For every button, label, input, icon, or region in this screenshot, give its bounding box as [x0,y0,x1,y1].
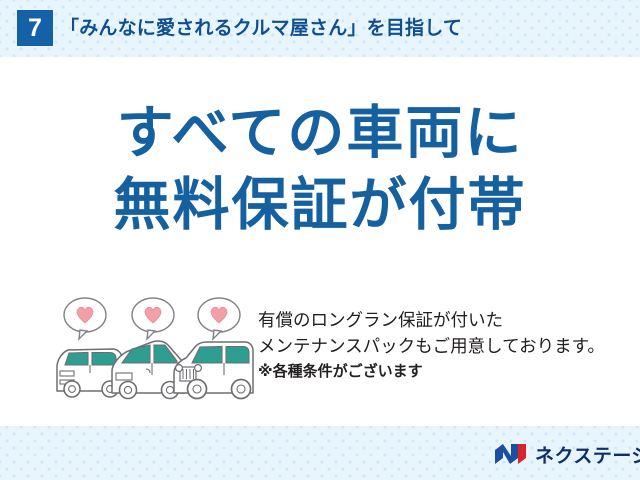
body-copy-line-2: メンテナンスパックもご用意しております。 [258,333,630,359]
speech-bubble-1 [64,298,106,339]
nextage-n-logo-icon [494,442,528,466]
body-copy-block: 有償のロングラン保証が付いた メンテナンスパックもご用意しております。 ※各種条… [258,307,630,385]
speech-bubble-3 [198,298,240,339]
content-panel: すべての車両に 無料保証が付帯 [0,57,640,426]
header-tagline: 「みんなに愛されるクルマ屋さん」を目指して [60,13,462,40]
car-suv [174,342,253,399]
cars-illustration-svg [52,295,262,400]
headline-line-2: 無料保証が付帯 [0,169,640,241]
section-number-badge: 7 [17,10,53,46]
cars-with-hearts-illustration [52,295,262,400]
header: 7 「みんなに愛されるクルマ屋さん」を目指して [0,0,640,57]
brand-logo: ネクステージ [494,440,640,468]
headline-line-1: すべての車両に [0,97,640,169]
advertisement-page: 7 「みんなに愛されるクルマ屋さん」を目指して すべての車両に 無料保証が付帯 [0,0,640,480]
body-copy-line-1: 有償のロングラン保証が付いた [258,307,630,333]
headline-block: すべての車両に 無料保証が付帯 [0,97,640,241]
speech-bubble-2 [132,298,174,339]
brand-name: ネクステージ [535,441,640,468]
car-minivan [112,341,184,399]
body-copy-note: ※各種条件がございます [258,359,630,385]
